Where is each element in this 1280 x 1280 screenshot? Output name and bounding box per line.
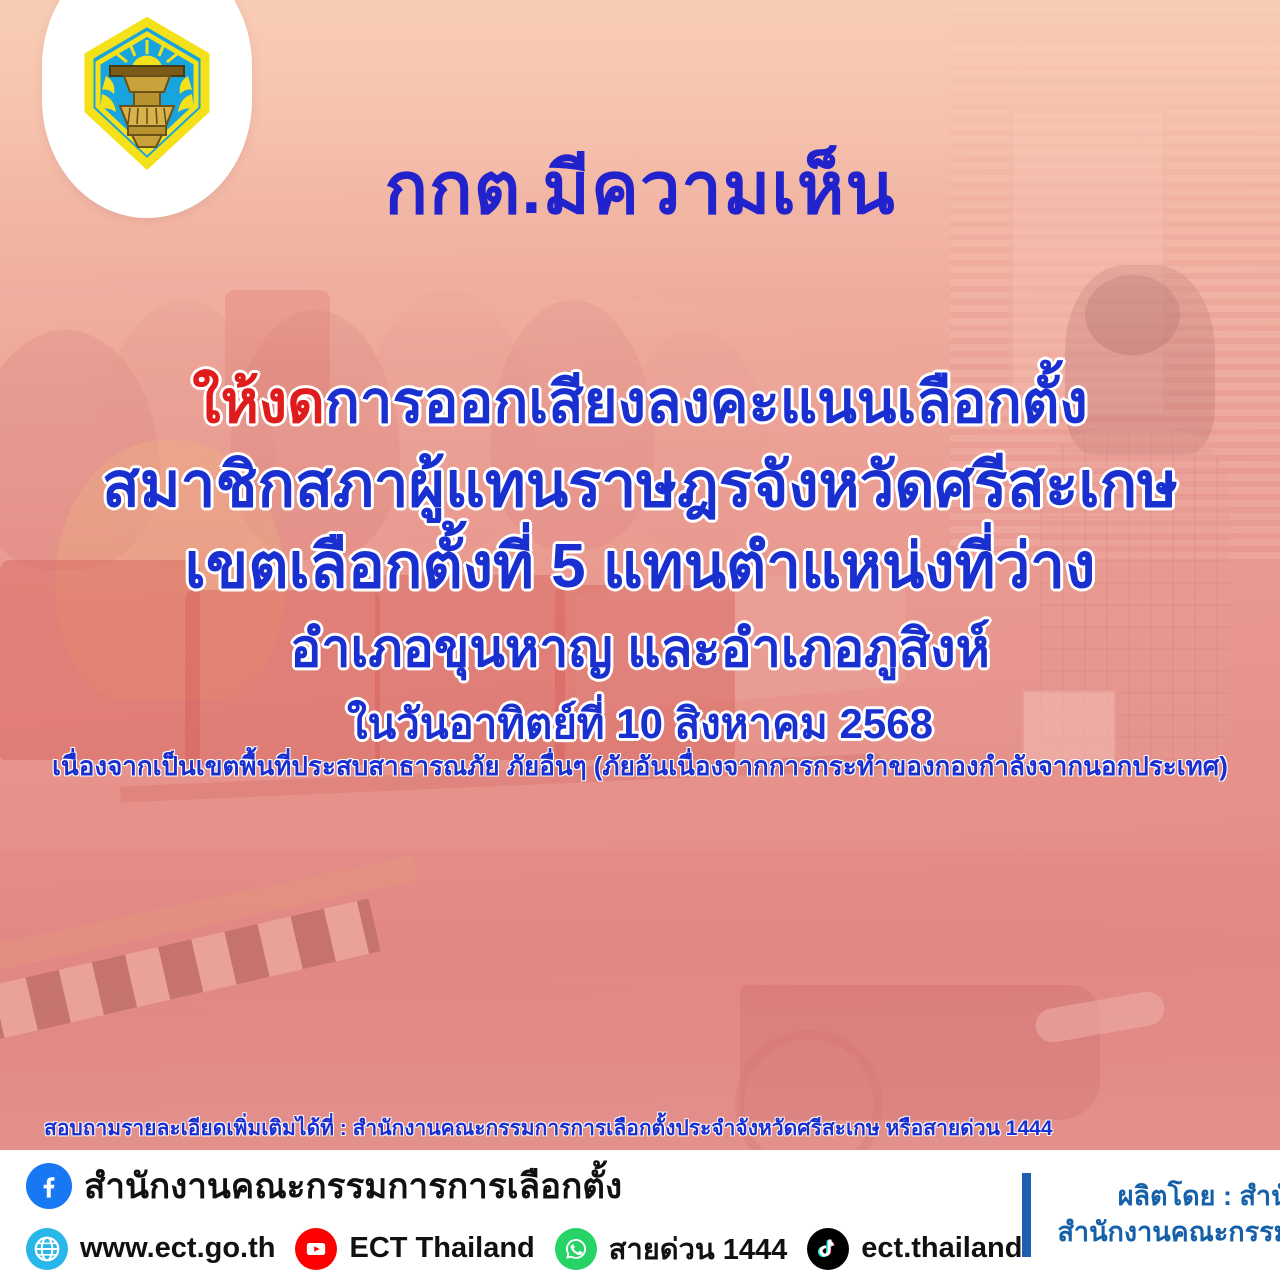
message-line-6: เนื่องจากเป็นเขตพื้นที่ประสบสาธารณภัย ภั… <box>0 752 1280 780</box>
footer-divider <box>1022 1173 1031 1257</box>
page-title: กกต.มีความเห็น <box>0 152 1280 228</box>
footer-link-youtube[interactable]: ECT Thailand <box>295 1228 534 1270</box>
footer-link-tiktok[interactable]: ect.thailand <box>807 1228 1022 1270</box>
footer-label-whatsapp: สายด่วน 1444 <box>609 1226 788 1272</box>
footer-label-youtube: ECT Thailand <box>349 1232 534 1265</box>
message-line-2: สมาชิกสภาผู้แทนราษฎรจังหวัดศรีสะเกษ <box>0 453 1280 520</box>
contact-note: สอบถามรายละเอียดเพิ่มเติมได้ที่ : สำนักง… <box>44 1112 1053 1145</box>
message-line-1-rest: การออกเสียงลงคะแนนเลือกตั้ง <box>325 370 1088 435</box>
message-line-5: ในวันอาทิตย์ที่ 10 สิงหาคม 2568 <box>0 701 1280 746</box>
message-line-4: อำเภอขุนหาญ และอำเภอภูสิงห์ <box>0 621 1280 677</box>
producer-credit: ผลิตโดย : สำนักประชาสัมพันธ์ สำนักงานคณะ… <box>1057 1179 1280 1250</box>
producer-line-1: ผลิตโดย : สำนักประชาสัมพันธ์ <box>1057 1179 1280 1215</box>
footer-row-secondary: www.ect.go.th ECT Thailand <box>26 1226 1022 1272</box>
message-block: ให้งดการออกเสียงลงคะแนนเลือกตั้ง สมาชิกส… <box>0 372 1280 780</box>
message-line-3: เขตเลือกตั้งที่ 5 แทนตำแหน่งที่ว่าง <box>0 534 1280 601</box>
footer-link-facebook[interactable]: สำนักงานคณะกรรมการการเลือกตั้ง <box>26 1159 622 1214</box>
poster-canvas: กกต.มีความเห็น ให้งดการออกเสียงลงคะแนนเล… <box>0 0 1280 1280</box>
globe-icon <box>26 1228 68 1270</box>
footer-label-tiktok: ect.thailand <box>861 1232 1022 1265</box>
whatsapp-icon <box>555 1228 597 1270</box>
footer-label-website: www.ect.go.th <box>80 1232 275 1265</box>
youtube-icon <box>295 1228 337 1270</box>
footer-link-website[interactable]: www.ect.go.th <box>26 1228 275 1270</box>
facebook-icon <box>26 1163 72 1209</box>
footer-label-facebook: สำนักงานคณะกรรมการการเลือกตั้ง <box>84 1159 622 1214</box>
footer-row-primary: สำนักงานคณะกรรมการการเลือกตั้ง <box>26 1159 1022 1214</box>
footer-link-whatsapp[interactable]: สายด่วน 1444 <box>555 1226 788 1272</box>
tiktok-icon <box>807 1228 849 1270</box>
footer-bar: สำนักงานคณะกรรมการการเลือกตั้ง ww <box>0 1150 1280 1280</box>
message-line-1-accent: ให้งด <box>192 370 325 435</box>
producer-line-2: สำนักงานคณะกรรมการการเลือกตั้ง <box>1057 1215 1280 1251</box>
message-line-1: ให้งดการออกเสียงลงคะแนนเลือกตั้ง <box>0 372 1280 435</box>
footer-producer-block: ผลิตโดย : สำนักประชาสัมพันธ์ สำนักงานคณะ… <box>1022 1173 1280 1257</box>
footer-social-links: สำนักงานคณะกรรมการการเลือกตั้ง ww <box>0 1159 1022 1272</box>
